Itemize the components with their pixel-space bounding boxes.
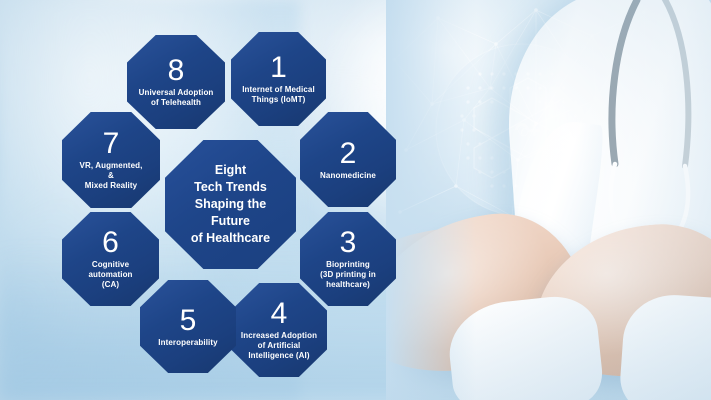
trend-label-4-line-1: Increased Adoption: [241, 331, 317, 340]
trend-label-6-line-3: (CA): [102, 280, 119, 289]
trend-number-7: 7: [103, 129, 120, 159]
trend-label-6-line-1: Cognitive: [92, 260, 129, 269]
center-title-line-3: Shaping the Future: [195, 197, 267, 228]
trend-label-3-line-1: Bioprinting: [326, 260, 370, 269]
trend-label-7: VR, Augmented, & Mixed Reality: [71, 161, 152, 191]
trend-label-7-line-1: VR, Augmented,: [80, 161, 143, 170]
trend-label-1-line-2: Things (IoMT): [252, 95, 306, 104]
center-title-line-1: Eight: [215, 163, 246, 177]
trend-label-2: Nanomedicine: [311, 171, 385, 181]
trend-number-5: 5: [180, 306, 197, 336]
center-title-line-2: Tech Trends: [194, 180, 267, 194]
trend-node-8[interactable]: 8 Universal Adoption of Telehealth: [127, 35, 225, 129]
center-title: Eight Tech Trends Shaping the Future of …: [165, 162, 296, 246]
trend-label-8-line-2: of Telehealth: [151, 98, 201, 107]
trend-label-4-line-3: Intelligence (AI): [248, 351, 309, 360]
trend-number-3: 3: [340, 228, 357, 258]
trend-label-4: Increased Adoption of Artificial Intelli…: [232, 331, 326, 361]
trend-node-5[interactable]: 5 Interoperability: [140, 280, 236, 373]
trend-label-7-line-3: Mixed Reality: [85, 181, 137, 190]
trend-label-5-line-1: Interoperability: [158, 338, 217, 347]
trend-label-8: Universal Adoption of Telehealth: [130, 88, 223, 108]
infographic-canvas: ✚ ✆ ●●●: [0, 0, 711, 400]
trend-label-7-line-2: &: [108, 171, 114, 180]
trend-label-3: Bioprinting (3D printing in healthcare): [311, 260, 385, 290]
trend-label-6-line-2: automation: [88, 270, 132, 279]
trend-label-6: Cognitive automation (CA): [79, 260, 141, 290]
trend-number-6: 6: [102, 228, 119, 258]
trend-label-3-line-2: (3D printing in: [320, 270, 376, 279]
center-title-line-4: of Healthcare: [191, 231, 270, 245]
trend-label-8-line-1: Universal Adoption: [139, 88, 214, 97]
trend-label-4-line-2: of Artificial: [258, 341, 301, 350]
trend-node-4[interactable]: 4 Increased Adoption of Artificial Intel…: [231, 283, 327, 377]
trend-label-5: Interoperability: [149, 338, 226, 348]
center-node[interactable]: Eight Tech Trends Shaping the Future of …: [165, 140, 296, 269]
trend-number-1: 1: [270, 53, 287, 83]
trend-node-1[interactable]: 1 Internet of Medical Things (IoMT): [231, 32, 326, 126]
trend-node-6[interactable]: 6 Cognitive automation (CA): [62, 212, 159, 306]
trend-label-3-line-3: healthcare): [326, 280, 370, 289]
trend-node-2[interactable]: 2 Nanomedicine: [300, 112, 396, 207]
trend-label-1-line-1: Internet of Medical: [242, 85, 315, 94]
trend-number-8: 8: [168, 56, 185, 86]
trend-number-4: 4: [271, 299, 288, 329]
trend-label-2-line-1: Nanomedicine: [320, 171, 376, 180]
trend-label-1: Internet of Medical Things (IoMT): [233, 85, 324, 105]
trend-node-7[interactable]: 7 VR, Augmented, & Mixed Reality: [62, 112, 160, 208]
trend-node-3[interactable]: 3 Bioprinting (3D printing in healthcare…: [300, 212, 396, 306]
trend-number-2: 2: [340, 139, 357, 169]
